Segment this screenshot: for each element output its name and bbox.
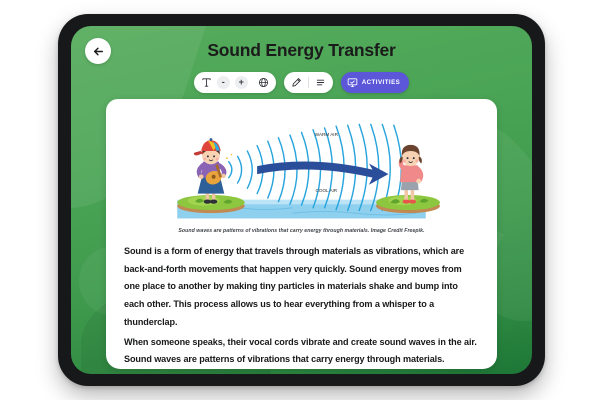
font-size-toolbar-group: - +	[194, 72, 276, 93]
monitor-check-icon	[347, 77, 358, 88]
cool-air-label: COOL AIR	[316, 188, 338, 193]
tablet-screen: Sound Energy Transfer - +	[71, 26, 532, 374]
globe-icon[interactable]	[258, 77, 269, 88]
highlighter-pen-icon[interactable]	[291, 77, 302, 88]
text-format-icon[interactable]	[201, 77, 212, 88]
lesson-illustration: WARM AIR COOL AIR	[124, 109, 479, 225]
back-button[interactable]	[85, 38, 111, 64]
tablet-device-frame: Sound Energy Transfer - +	[58, 14, 545, 386]
annotation-toolbar-group	[284, 72, 333, 93]
decrease-font-size-button[interactable]: -	[217, 76, 230, 89]
left-character-group	[177, 138, 244, 213]
lesson-body-text: Sound is a form of energy that travels t…	[124, 243, 479, 369]
list-lines-icon[interactable]	[315, 77, 326, 88]
warm-air-label: WARM AIR	[315, 132, 339, 137]
image-caption: Sound waves are patterns of vibrations t…	[124, 228, 479, 234]
page-title: Sound Energy Transfer	[71, 40, 532, 61]
lesson-paragraph: Sound is a form of energy that travels t…	[124, 243, 479, 332]
activities-button[interactable]: ACTIVITIES	[341, 72, 410, 93]
arrow-left-icon	[92, 45, 105, 58]
activities-button-label: ACTIVITIES	[362, 79, 401, 86]
increase-font-size-button[interactable]: +	[235, 76, 248, 89]
lesson-paragraph: When someone speaks, their vocal cords v…	[124, 334, 479, 369]
reader-toolbar: - +	[71, 72, 532, 93]
right-character-group	[376, 145, 440, 213]
lesson-content-card[interactable]: WARM AIR COOL AIR	[106, 99, 497, 369]
toolbar-divider	[308, 77, 309, 88]
